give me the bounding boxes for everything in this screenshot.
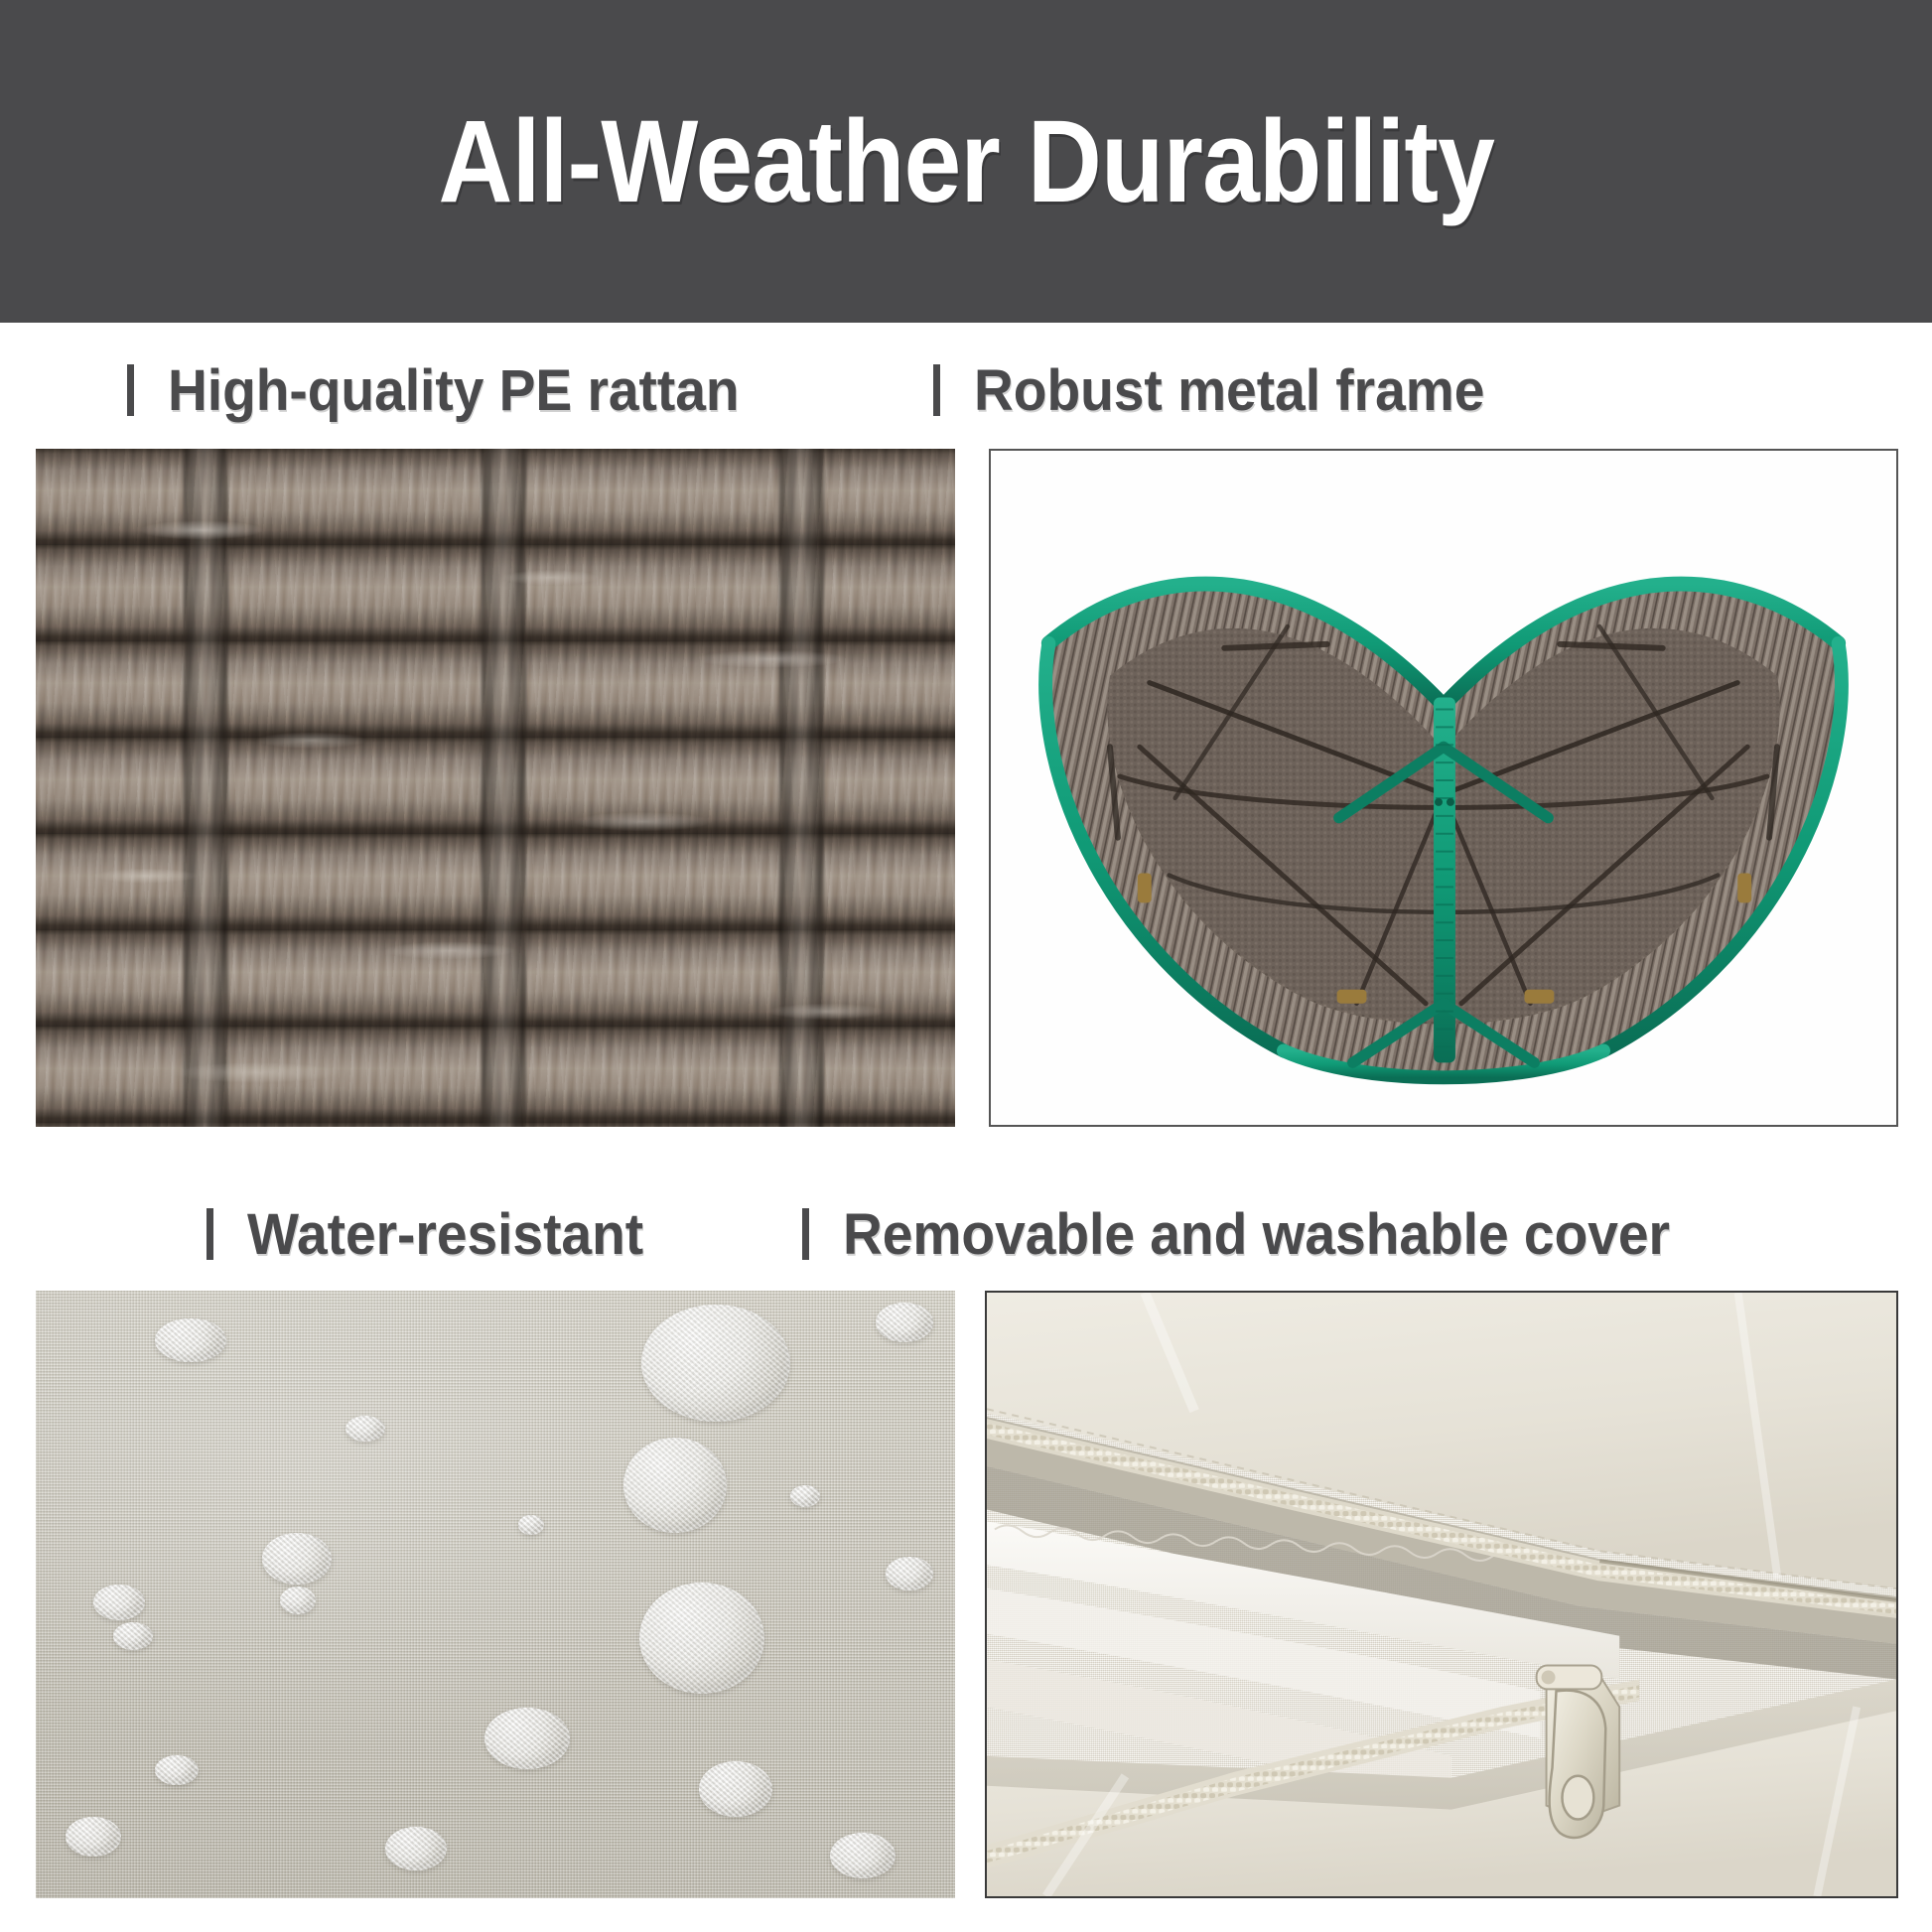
rattan-highlight-mottle — [36, 449, 955, 1127]
water-droplet — [262, 1533, 332, 1585]
water-droplet — [699, 1761, 772, 1817]
water-droplet — [886, 1557, 933, 1590]
label-accent-bar-icon — [207, 1208, 213, 1260]
water-fabric-shading — [36, 1291, 955, 1898]
water-droplet — [385, 1827, 447, 1870]
header-banner: All-Weather Durability — [0, 0, 1932, 323]
water-droplet — [484, 1708, 570, 1769]
water-droplet — [155, 1755, 199, 1785]
label-accent-bar-icon — [127, 364, 134, 416]
water-droplet — [280, 1587, 316, 1614]
feature-image-cover: Cream cushion cover with an open zipper … — [985, 1291, 1898, 1898]
water-droplet — [623, 1438, 727, 1533]
water-droplet — [830, 1833, 896, 1878]
feature-label-cover: Removable and washable cover — [802, 1199, 1714, 1269]
metal-frame-illustration — [991, 451, 1896, 1125]
feature-label-water: Water-resistant — [207, 1199, 664, 1269]
feature-image-frame: Underside of a curved arc-shaped wicker … — [989, 449, 1898, 1127]
metal-frame-photo — [991, 451, 1896, 1125]
water-droplet — [641, 1305, 790, 1422]
feature-label-frame: Robust metal frame — [933, 355, 1511, 425]
water-droplet — [639, 1583, 764, 1694]
feature-label-water-text: Water-resistant — [247, 1201, 643, 1268]
zipper-pull-tab — [1550, 1691, 1606, 1838]
feature-label-frame-text: Robust metal frame — [974, 357, 1484, 424]
infographic-page: All-Weather Durability High-quality PE r… — [0, 0, 1932, 1932]
water-droplet — [876, 1303, 933, 1342]
page-title: All-Weather Durability — [438, 94, 1493, 229]
label-accent-bar-icon — [933, 364, 940, 416]
feature-image-rattan: Close-up of gray-brown PE rattan basket … — [36, 449, 955, 1127]
water-droplet — [93, 1585, 145, 1620]
feature-label-rattan: High-quality PE rattan — [127, 355, 769, 425]
feature-label-cover-text: Removable and washable cover — [843, 1201, 1670, 1268]
water-droplet — [113, 1622, 153, 1650]
water-droplet — [345, 1416, 385, 1442]
feature-image-water: Beige woven upholstery fabric with silve… — [36, 1291, 955, 1898]
water-droplet — [518, 1515, 544, 1535]
water-droplet — [155, 1318, 226, 1362]
label-accent-bar-icon — [802, 1208, 809, 1260]
feature-label-rattan-text: High-quality PE rattan — [168, 357, 740, 424]
water-droplet — [66, 1817, 121, 1857]
zipper-illustration — [987, 1293, 1896, 1896]
water-droplet — [790, 1485, 820, 1507]
